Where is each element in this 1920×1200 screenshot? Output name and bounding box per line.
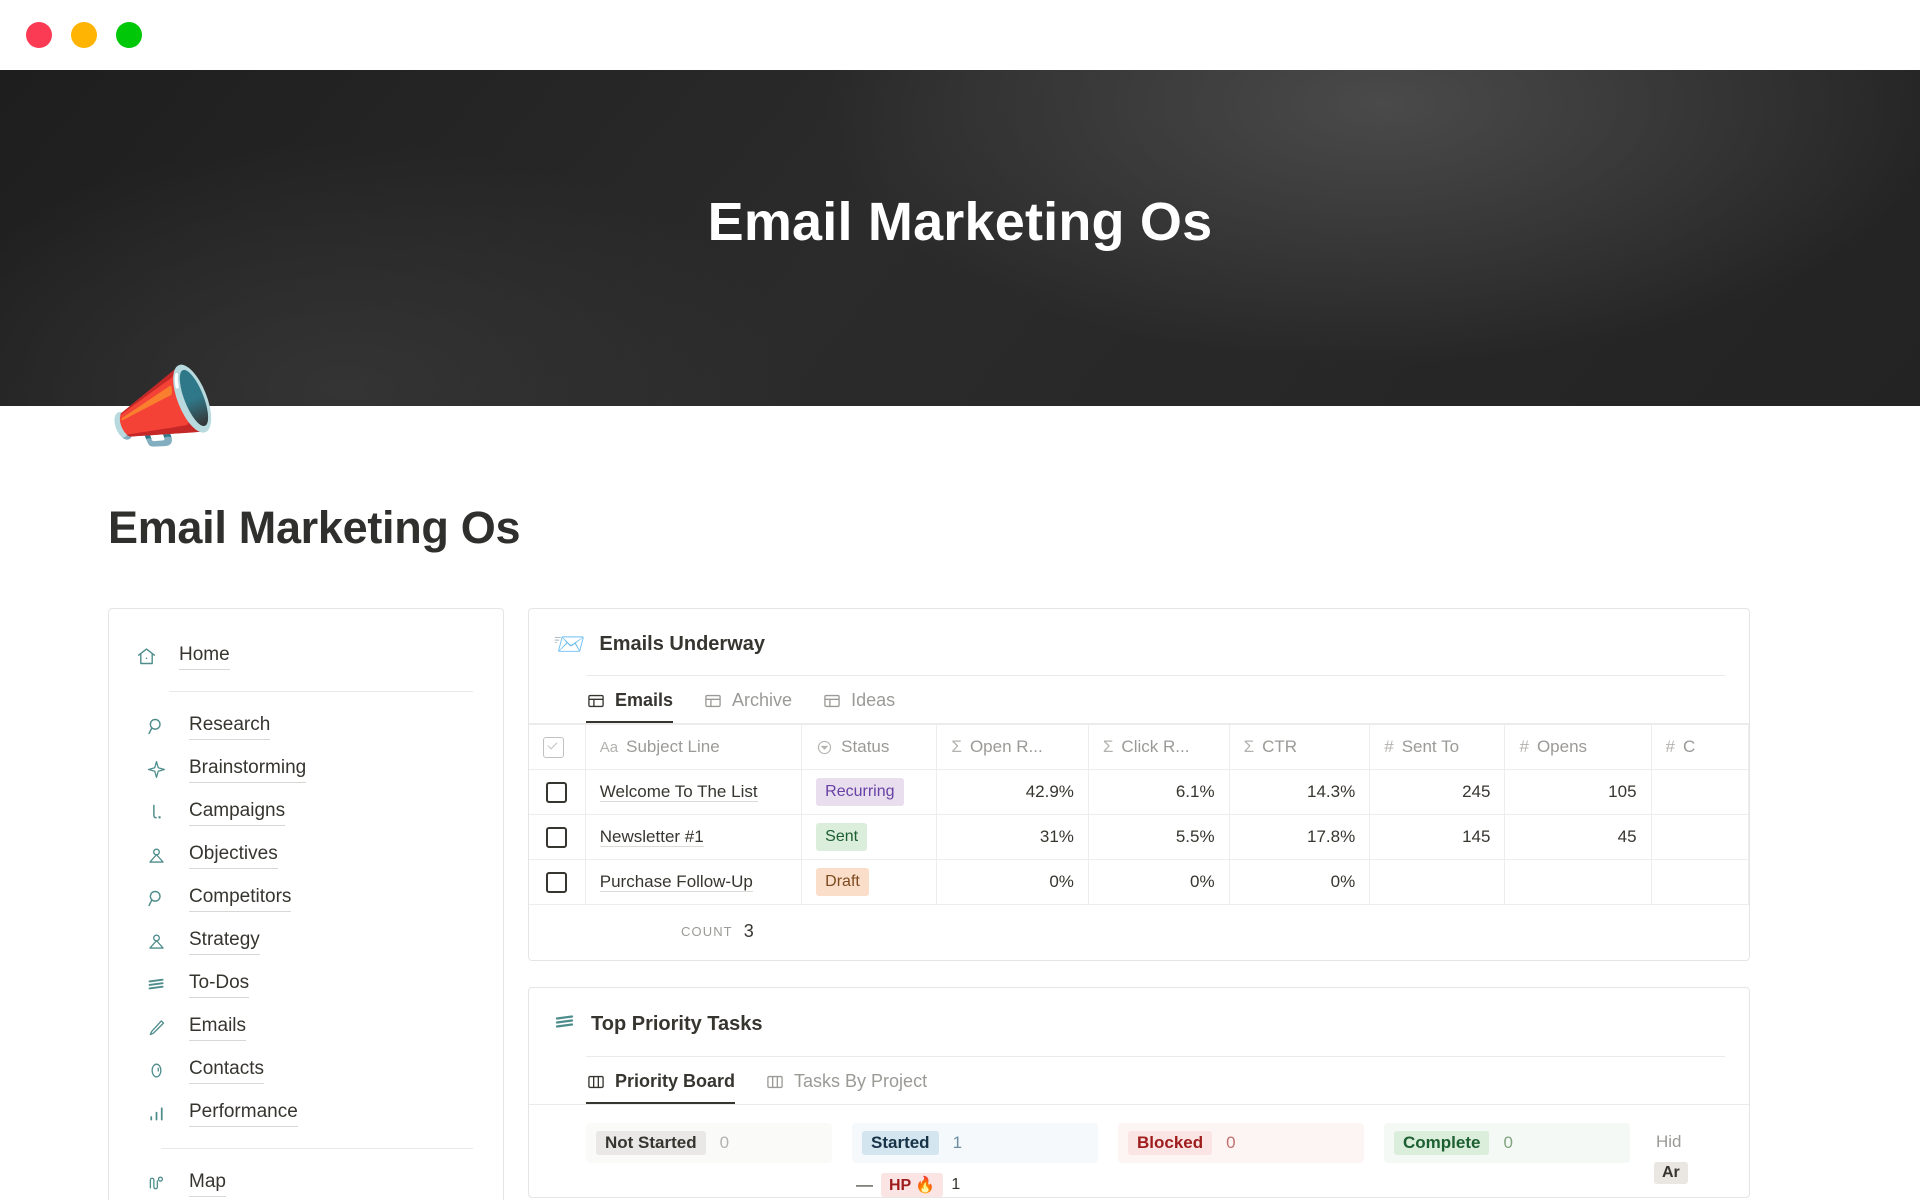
cell-click-rate: 5.5% (1088, 815, 1229, 860)
cell-status[interactable]: Recurring (802, 770, 937, 815)
cell-ctr: 0% (1229, 860, 1370, 905)
cell-ctr: 17.8% (1229, 815, 1370, 860)
table-icon (586, 691, 606, 711)
sidebar-item-label: Objectives (189, 842, 278, 869)
sidebar-item-label: Research (189, 713, 270, 740)
row-checkbox-cell[interactable] (529, 815, 585, 860)
sidebar-item-label: Campaigns (189, 799, 285, 826)
emails-table: Aa Subject Line Status (529, 724, 1749, 905)
tab-label: Tasks By Project (794, 1071, 927, 1092)
main-column: 📨 Emails Underway Emails (528, 608, 1920, 1200)
column-count: 0 (1503, 1133, 1512, 1153)
traffic-lights (26, 22, 142, 48)
flag-icon (145, 802, 167, 824)
cell-sent-to[interactable]: 145 (1370, 815, 1505, 860)
table-row[interactable]: Welcome To The List Recurring 42.9% 6.1%… (529, 770, 1749, 815)
clipped-badge: Ar (1654, 1162, 1688, 1184)
sidebar-item-competitors[interactable]: Competitors (145, 877, 473, 920)
magnifier-icon (145, 888, 167, 910)
table-row[interactable]: Newsletter #1 Sent 31% 5.5% 17.8% 145 45 (529, 815, 1749, 860)
page-title: Email Marketing Os (108, 502, 1920, 554)
cell-open-rate: 0% (937, 860, 1088, 905)
board-task-card[interactable]: — HP 🔥 1 (852, 1173, 1098, 1197)
stack-icon (145, 974, 167, 996)
select-all-header[interactable] (529, 725, 585, 770)
column-label: Open R... (970, 737, 1043, 757)
column-header-sent-to[interactable]: # Sent To (1370, 725, 1505, 770)
column-count: 0 (1226, 1133, 1235, 1153)
cell-opens[interactable]: 105 (1505, 770, 1651, 815)
cell-sent-to[interactable] (1370, 860, 1505, 905)
tab-label: Priority Board (615, 1071, 735, 1092)
cell-click-rate: 6.1% (1088, 770, 1229, 815)
column-status-badge: Complete (1394, 1131, 1489, 1155)
board-column-header[interactable]: Complete 0 (1384, 1123, 1630, 1163)
sidebar-item-label: Home (179, 643, 230, 670)
number-icon: # (1666, 737, 1675, 757)
select-icon (816, 739, 833, 756)
column-label: C (1683, 737, 1695, 757)
column-header-click-rate[interactable]: Σ Click R... (1088, 725, 1229, 770)
sidebar-item-label: Competitors (189, 885, 291, 912)
maximize-window-button[interactable] (116, 22, 142, 48)
sidebar-item-research[interactable]: Research (145, 705, 473, 748)
page-columns: Home Research (0, 608, 1920, 1200)
tab-label: Emails (615, 690, 673, 711)
cell-status[interactable]: Sent (802, 815, 937, 860)
column-header-subject-line[interactable]: Aa Subject Line (585, 725, 801, 770)
cell-ctr: 14.3% (1229, 770, 1370, 815)
hidden-columns-label: Hid (1650, 1123, 1688, 1152)
count-label: COUNT (681, 924, 733, 939)
status-badge: Recurring (816, 778, 903, 805)
board-column-header[interactable]: Not Started 0 (586, 1123, 832, 1163)
sidebar-footer-list: Map (135, 1162, 473, 1200)
sparkle-icon (145, 759, 167, 781)
top-priority-tasks-card: Top Priority Tasks Priority Board (528, 987, 1750, 1198)
sidebar-item-label: Contacts (189, 1057, 264, 1084)
column-label: Subject Line (626, 737, 720, 757)
column-header-opens[interactable]: # Opens (1505, 725, 1651, 770)
sidebar-item-label: Brainstorming (189, 756, 306, 783)
sidebar-item-label: Strategy (189, 928, 260, 955)
sidebar-item-campaigns[interactable]: Campaigns (145, 791, 473, 834)
subject-text: Welcome To The List (600, 782, 758, 802)
cell-opens[interactable] (1505, 860, 1651, 905)
cell-open-rate: 31% (937, 815, 1088, 860)
tab-label: Archive (732, 690, 792, 711)
board-icon (586, 1072, 606, 1092)
column-count: 0 (720, 1133, 729, 1153)
stack-layers-icon (553, 1010, 577, 1038)
tasks-card-header: Top Priority Tasks (529, 988, 1749, 1038)
cell-clicks[interactable] (1651, 860, 1748, 905)
board-column-not-started[interactable]: Not Started 0 (586, 1123, 832, 1163)
table-icon (703, 691, 723, 711)
table-header-row: Aa Subject Line Status (529, 725, 1749, 770)
emails-view-tabs: Emails Archive (529, 676, 1749, 724)
sidebar-item-home[interactable]: Home (135, 635, 473, 678)
minimize-window-button[interactable] (71, 22, 97, 48)
map-pin-icon (145, 1173, 167, 1195)
column-status-badge: Blocked (1128, 1131, 1212, 1155)
sidebar-divider-top (169, 691, 473, 692)
target-person-icon (145, 931, 167, 953)
column-label: CTR (1262, 737, 1297, 757)
target-person-icon (145, 845, 167, 867)
checkbox-icon[interactable] (546, 872, 567, 893)
cell-clicks[interactable] (1651, 815, 1748, 860)
row-checkbox-cell[interactable] (529, 770, 585, 815)
task-number: 1 (951, 1176, 960, 1194)
column-header-open-rate[interactable]: Σ Open R... (937, 725, 1088, 770)
magnifier-icon (145, 716, 167, 738)
column-header-clicks[interactable]: # C (1651, 725, 1748, 770)
tab-emails[interactable]: Emails (586, 690, 673, 723)
status-badge: Draft (816, 868, 869, 895)
subject-text: Purchase Follow-Up (600, 872, 753, 892)
cell-subject-line[interactable]: Newsletter #1 (585, 815, 801, 860)
sidebar-item-to-dos[interactable]: To-Dos (145, 963, 473, 1006)
sidebar-item-objectives[interactable]: Objectives (145, 834, 473, 877)
priority-board: Not Started 0 Started 1 — HP 🔥 1 (529, 1105, 1749, 1197)
home-icon (135, 646, 157, 668)
window-titlebar (0, 0, 1920, 70)
sidebar-item-label: Performance (189, 1100, 298, 1127)
checkbox-icon[interactable] (543, 737, 564, 758)
count-value: 3 (744, 921, 754, 942)
task-dash: — (856, 1175, 873, 1195)
number-icon: # (1519, 737, 1528, 757)
checkbox-icon[interactable] (546, 782, 567, 803)
tab-archive[interactable]: Archive (703, 690, 792, 723)
incoming-envelope-icon: 📨 (553, 631, 585, 657)
number-icon: # (1384, 737, 1393, 757)
column-header-status[interactable]: Status (802, 725, 937, 770)
cell-status[interactable]: Draft (802, 860, 937, 905)
page-cover-banner: Email Marketing Os 📣 (0, 70, 1920, 406)
formula-icon: Σ (1244, 737, 1255, 757)
board-column-blocked[interactable]: Blocked 0 (1118, 1123, 1364, 1163)
subject-text: Newsletter #1 (600, 827, 704, 847)
priority-badge: HP 🔥 (881, 1173, 943, 1197)
hidden-columns-area[interactable]: Hid Ar (1650, 1123, 1688, 1184)
table-row[interactable]: Purchase Follow-Up Draft 0% 0% 0% (529, 860, 1749, 905)
sidebar-item-strategy[interactable]: Strategy (145, 920, 473, 963)
sidebar-item-performance[interactable]: Performance (145, 1092, 473, 1135)
tab-priority-board[interactable]: Priority Board (586, 1071, 735, 1104)
tab-label: Ideas (851, 690, 895, 711)
tasks-card-title: Top Priority Tasks (591, 1013, 763, 1036)
emails-underway-card: 📨 Emails Underway Emails (528, 608, 1750, 961)
row-checkbox-cell[interactable] (529, 860, 585, 905)
formula-icon: Σ (951, 737, 962, 757)
board-icon (765, 1072, 785, 1092)
banner-title: Email Marketing Os (708, 191, 1213, 253)
checkbox-icon[interactable] (546, 827, 567, 848)
sidebar-item-brainstorming[interactable]: Brainstorming (145, 748, 473, 791)
cell-subject-line[interactable]: Welcome To The List (585, 770, 801, 815)
bar-chart-icon (145, 1103, 167, 1125)
column-label: Click R... (1121, 737, 1189, 757)
cell-open-rate: 42.9% (937, 770, 1088, 815)
clipped-task-card[interactable]: Ar (1650, 1162, 1688, 1184)
column-label: Opens (1537, 737, 1587, 757)
tab-tasks-by-project[interactable]: Tasks By Project (765, 1071, 927, 1104)
formula-icon: Σ (1103, 737, 1114, 757)
sidebar-item-list: Research Brainstorming (135, 705, 473, 1135)
sidebar-item-contacts[interactable]: Contacts (145, 1049, 473, 1092)
sidebar-item-label: To-Dos (189, 971, 249, 998)
cell-subject-line[interactable]: Purchase Follow-Up (585, 860, 801, 905)
pencil-icon (145, 1017, 167, 1039)
tasks-view-tabs: Priority Board Tasks By Project (529, 1057, 1749, 1105)
board-column-started[interactable]: Started 1 — HP 🔥 1 (852, 1123, 1098, 1197)
cell-sent-to[interactable]: 245 (1370, 770, 1505, 815)
sidebar-nav-card: Home Research (108, 608, 504, 1200)
sidebar-item-label: Map (189, 1170, 226, 1197)
cell-click-rate: 0% (1088, 860, 1229, 905)
board-column-header[interactable]: Started 1 (852, 1123, 1098, 1163)
contact-icon (145, 1060, 167, 1082)
column-header-ctr[interactable]: Σ CTR (1229, 725, 1370, 770)
sidebar-item-emails[interactable]: Emails (145, 1006, 473, 1049)
sidebar-divider-bottom (161, 1148, 473, 1149)
status-badge: Sent (816, 823, 867, 850)
close-window-button[interactable] (26, 22, 52, 48)
sidebar-item-label: Emails (189, 1014, 246, 1041)
cell-opens[interactable]: 45 (1505, 815, 1651, 860)
page-body: Email Marketing Os Home (0, 502, 1920, 1200)
column-count: 1 (953, 1133, 962, 1153)
sidebar-item-map[interactable]: Map (145, 1162, 473, 1200)
column-label: Sent To (1402, 737, 1459, 757)
column-status-badge: Not Started (596, 1131, 706, 1155)
cell-clicks[interactable] (1651, 770, 1748, 815)
board-column-header[interactable]: Blocked 0 (1118, 1123, 1364, 1163)
tab-ideas[interactable]: Ideas (822, 690, 895, 723)
board-column-complete[interactable]: Complete 0 (1384, 1123, 1630, 1163)
emails-card-header: 📨 Emails Underway (529, 609, 1749, 657)
table-count-footer[interactable]: COUNT 3 (681, 905, 1749, 960)
megaphone-icon[interactable]: 📣 (108, 364, 218, 452)
aa-icon: Aa (600, 739, 618, 756)
column-label: Status (841, 737, 889, 757)
table-icon (822, 691, 842, 711)
column-status-badge: Started (862, 1131, 939, 1155)
emails-card-title: Emails Underway (599, 633, 765, 656)
